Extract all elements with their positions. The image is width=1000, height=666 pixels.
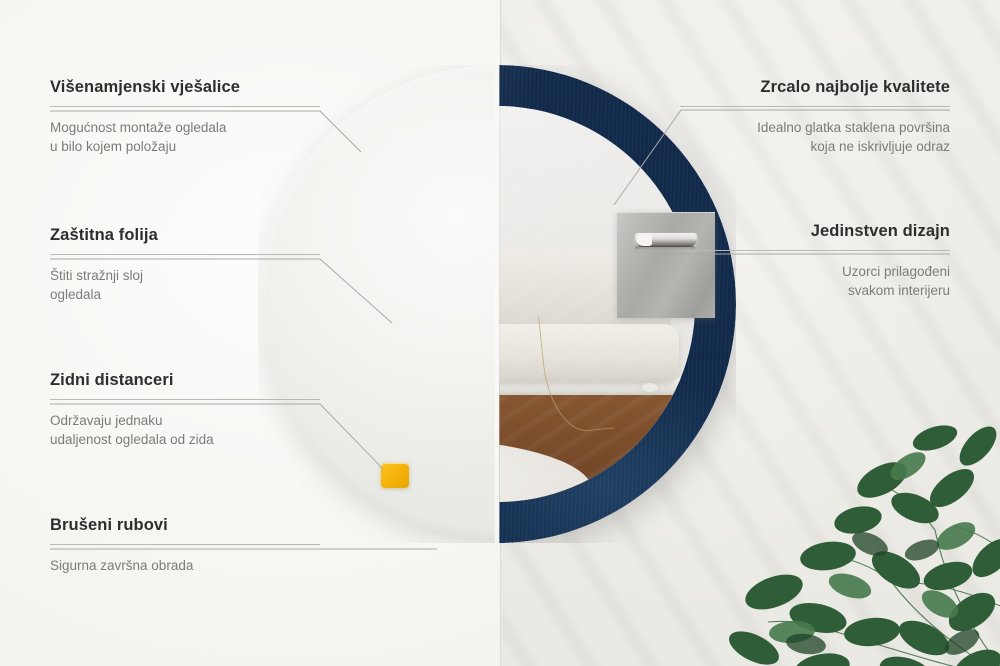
- callout-title: Zrcalo najbolje kvalitete: [680, 78, 950, 97]
- callout-right-1: Zrcalo najbolje kvalitete Idealno glatka…: [680, 78, 950, 156]
- callout-left-2: Zaštitna folija Štiti stražnji sloj ogle…: [50, 226, 320, 304]
- callout-rule: [50, 106, 320, 107]
- callout-rule: [50, 254, 320, 255]
- callout-left-3: Zidni distanceri Održavaju jednaku udalj…: [50, 371, 320, 449]
- callout-description: Idealno glatka staklena površina koja ne…: [680, 118, 950, 156]
- callout-description: Mogućnost montaže ogledala u bilo kojem …: [50, 118, 320, 156]
- hanger-keyhole-opening: [636, 234, 652, 246]
- callout-rule: [50, 544, 320, 545]
- callout-title: Jedinstven dizajn: [680, 222, 950, 241]
- callout-title: Brušeni rubovi: [50, 516, 320, 535]
- callout-title: Zidni distanceri: [50, 371, 320, 390]
- callout-rule: [680, 250, 950, 251]
- callout-title: Višenamjenski vješalice: [50, 78, 320, 97]
- mirror-product: [258, 65, 736, 543]
- protective-foil: [642, 383, 658, 392]
- callout-description: Sigurna završna obrada: [50, 556, 320, 575]
- infographic-canvas: Višenamjenski vješalice Mogućnost montaž…: [0, 0, 1000, 666]
- callout-left-1: Višenamjenski vješalice Mogućnost montaž…: [50, 78, 320, 156]
- callout-right-2: Jedinstven dizajn Uzorci prilagođeni sva…: [680, 222, 950, 300]
- callout-description: Štiti stražnji sloj ogledala: [50, 266, 320, 304]
- callout-title: Zaštitna folija: [50, 226, 320, 245]
- callout-rule: [50, 399, 320, 400]
- callout-description: Održavaju jednaku udaljenost ogledala od…: [50, 411, 320, 449]
- callout-description: Uzorci prilagođeni svakom interijeru: [680, 262, 950, 300]
- callout-rule: [680, 106, 950, 107]
- wall-spacer: [381, 463, 409, 488]
- callout-left-4: Brušeni rubovi Sigurna završna obrada: [50, 516, 320, 575]
